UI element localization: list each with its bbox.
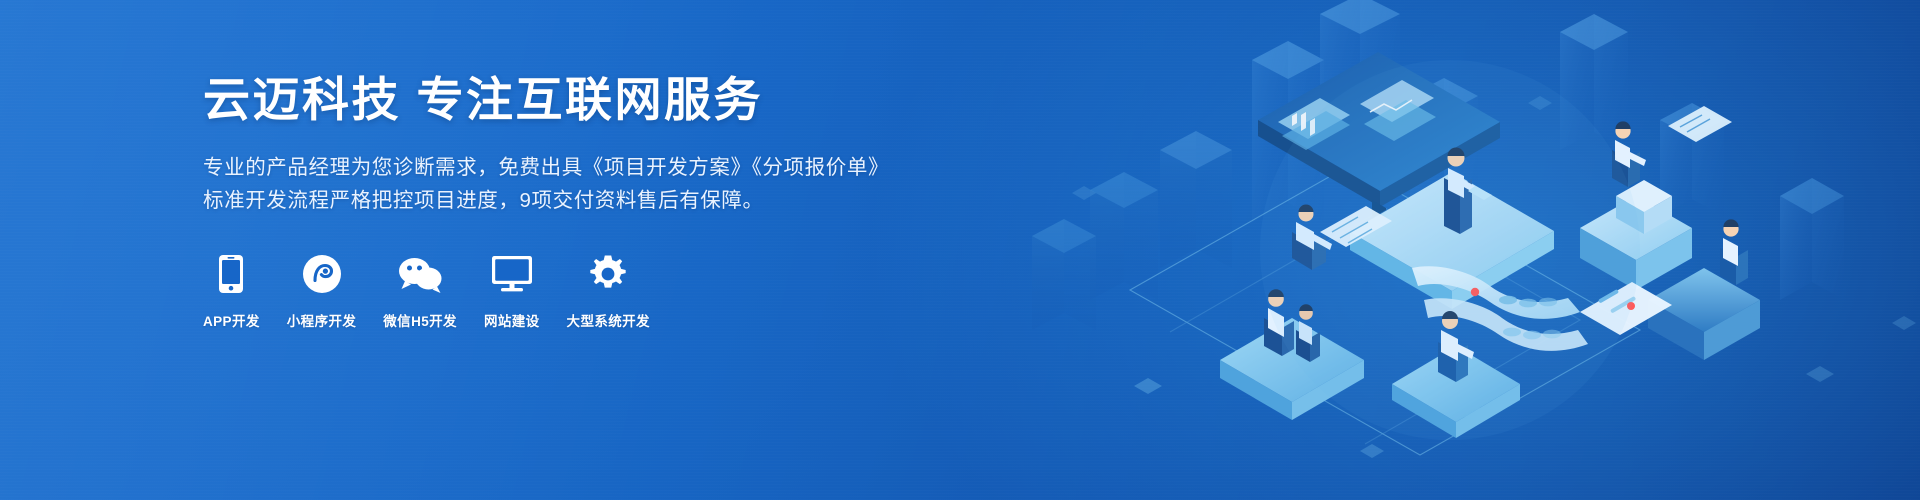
service-item-large-system[interactable]: 大型系统开发 <box>567 251 650 330</box>
service-item-mini-program[interactable]: 小程序开发 <box>287 251 357 330</box>
service-label: 大型系统开发 <box>567 310 650 330</box>
subtitle-line-1: 专业的产品经理为您诊断需求，免费出具《项目开发方案》《分项报价单》 <box>203 151 923 184</box>
service-item-wechat-h5[interactable]: 微信H5开发 <box>383 251 457 330</box>
service-label: APP开发 <box>203 310 260 330</box>
banner-subtitle: 专业的产品经理为您诊断需求，免费出具《项目开发方案》《分项报价单》 标准开发流程… <box>203 151 923 217</box>
isometric-data-platform-illustration <box>1020 0 1920 500</box>
smartphone-icon <box>205 251 257 297</box>
service-item-app[interactable]: APP开发 <box>203 251 260 330</box>
hero-banner: 云迈科技 专注互联网服务 专业的产品经理为您诊断需求，免费出具《项目开发方案》《… <box>0 0 1920 500</box>
service-label: 微信H5开发 <box>383 310 457 330</box>
page-title: 云迈科技 专注互联网服务 <box>203 72 923 127</box>
gear-icon <box>582 251 634 297</box>
wechat-chat-icon <box>394 251 446 297</box>
mini-program-icon <box>296 251 348 297</box>
service-item-website[interactable]: 网站建设 <box>484 251 540 330</box>
banner-copy: 云迈科技 专注互联网服务 专业的产品经理为您诊断需求，免费出具《项目开发方案》《… <box>203 72 923 330</box>
service-label: 网站建设 <box>484 310 540 330</box>
service-list: APP开发 小程序开发 <box>203 251 923 330</box>
service-label: 小程序开发 <box>287 310 357 330</box>
person-right-walking <box>1720 219 1748 285</box>
subtitle-line-2: 标准开发流程严格把控项目进度，9项交付资料售后有保障。 <box>203 184 923 217</box>
monitor-icon <box>486 251 538 297</box>
